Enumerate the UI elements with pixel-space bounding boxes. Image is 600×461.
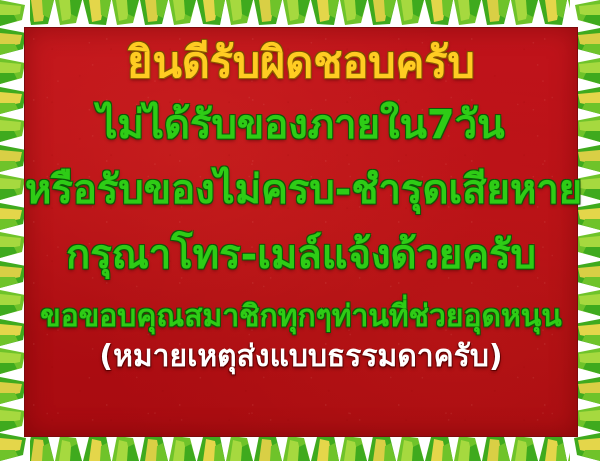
thai-notice-banner: ยินดีรับผิดชอบครับ ไม่ได้รับของภายใน7วัน… (0, 0, 600, 461)
notice-line-condition-not-received: ไม่ได้รับของภายใน7วัน (25, 105, 577, 145)
notice-text-block: ยินดีรับผิดชอบครับ ไม่ได้รับของภายใน7วัน… (25, 28, 577, 372)
notice-line-contact-instruction: กรุณาโทร-เมล์แจ้งด้วยครับ (25, 235, 577, 275)
notice-panel: ยินดีรับผิดชอบครับ ไม่ได้รับของภายใน7วัน… (24, 27, 578, 437)
notice-line-headline: ยินดีรับผิดชอบครับ (25, 42, 577, 85)
notice-line-footnote: (หมายเหตุส่งแบบธรรมดาครับ) (25, 342, 577, 372)
notice-line-condition-incomplete-damaged: หรือรับของไม่ครบ-ชำรุดเสียหาย (25, 170, 577, 210)
leaf-border-top (0, 0, 600, 30)
notice-line-thanks: ขอขอบคุณสมาชิกทุกๆท่านที่ช่วยอุดหนุน (25, 302, 577, 332)
